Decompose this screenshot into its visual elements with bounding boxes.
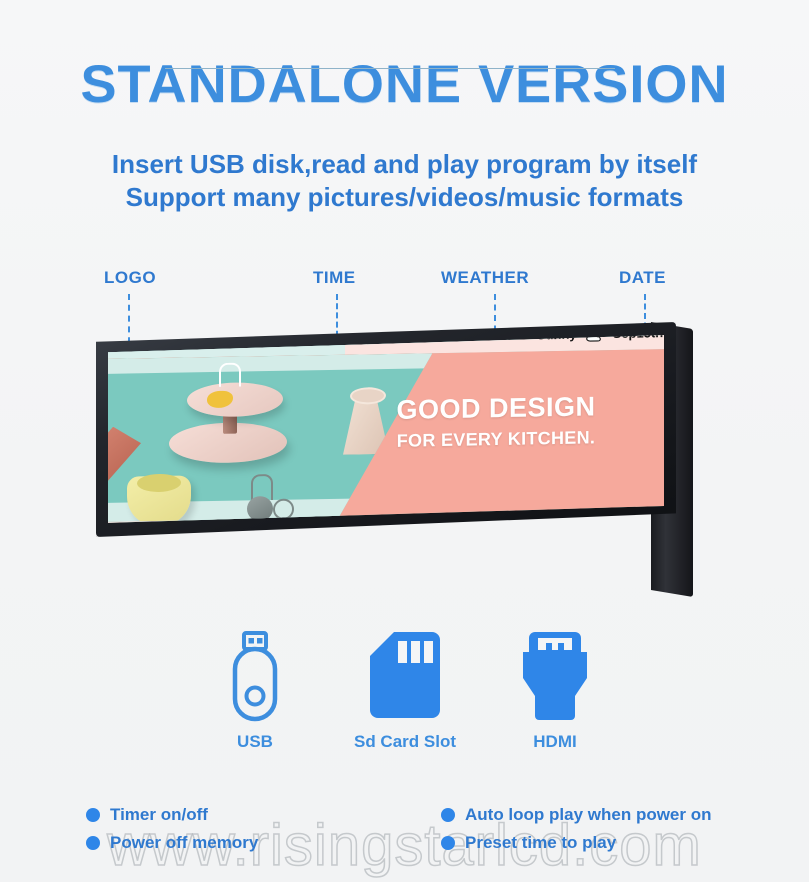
port-item-usb: USB [190,628,320,752]
feature-label: Timer on/off [110,805,208,825]
ad-headline: GOOD DESIGN [334,391,658,425]
headline-block: STANDALONE VERSION [0,58,809,111]
bar-lcd-display: 14:45 Sunny [96,322,704,590]
subheadline-line-1: Insert USB disk,read and play program by… [0,148,809,181]
port-label-sd-card: Sd Card Slot [340,732,470,752]
port-label-hdmi: HDMI [490,732,620,752]
bullet-dot-icon [441,836,455,850]
display-screen: 14:45 Sunny [108,334,664,524]
bullet-dot-icon [86,808,100,822]
bullet-dot-icon [441,808,455,822]
feature-item-timer-on-off: Timer on/off [86,805,441,825]
feature-label: Power off memory [110,833,258,853]
port-item-sd-card: Sd Card Slot [340,628,470,752]
sd-card-icon [340,628,470,724]
callout-label-date: DATE [619,268,666,288]
prop-stand-upper-tier [187,382,283,418]
screen-content: 14:45 Sunny [108,334,664,524]
page-title: STANDALONE VERSION [0,58,809,111]
callout-label-logo: LOGO [104,268,156,288]
prop-stand-handle [219,362,241,386]
ad-subline: FOR EVERY KITCHEN. [334,426,658,453]
feature-item-preset-time-to-play: Preset time to play [441,833,766,853]
ad-text-block: GOOD DESIGN FOR EVERY KITCHEN. [334,391,658,452]
usb-flash-drive-icon [190,628,320,724]
port-item-hdmi: HDMI [490,628,620,752]
headline-divider [165,68,615,69]
feature-label: Auto loop play when power on [465,805,712,825]
ports-row: USB Sd Card Slot [190,628,620,752]
bullet-dot-icon [86,836,100,850]
callout-label-time: TIME [313,268,356,288]
hdmi-connector-icon [490,628,620,724]
prop-infuser-ring [273,498,294,519]
feature-item-power-off-memory: Power off memory [86,833,441,853]
feature-label: Preset time to play [465,833,616,853]
port-label-usb: USB [190,732,320,752]
prop-tea-infuser [247,496,273,521]
feature-item-auto-loop-play: Auto loop play when power on [441,805,766,825]
page-root: STANDALONE VERSION Insert USB disk,read … [0,0,809,882]
callout-label-weather: WEATHER [441,268,529,288]
subheadline-block: Insert USB disk,read and play program by… [0,148,809,214]
subheadline-line-2: Support many pictures/videos/music forma… [0,181,809,214]
screen-main-content: GOOD DESIGN FOR EVERY KITCHEN. [108,349,664,522]
feature-list: Timer on/off Auto loop play when power o… [86,805,766,853]
